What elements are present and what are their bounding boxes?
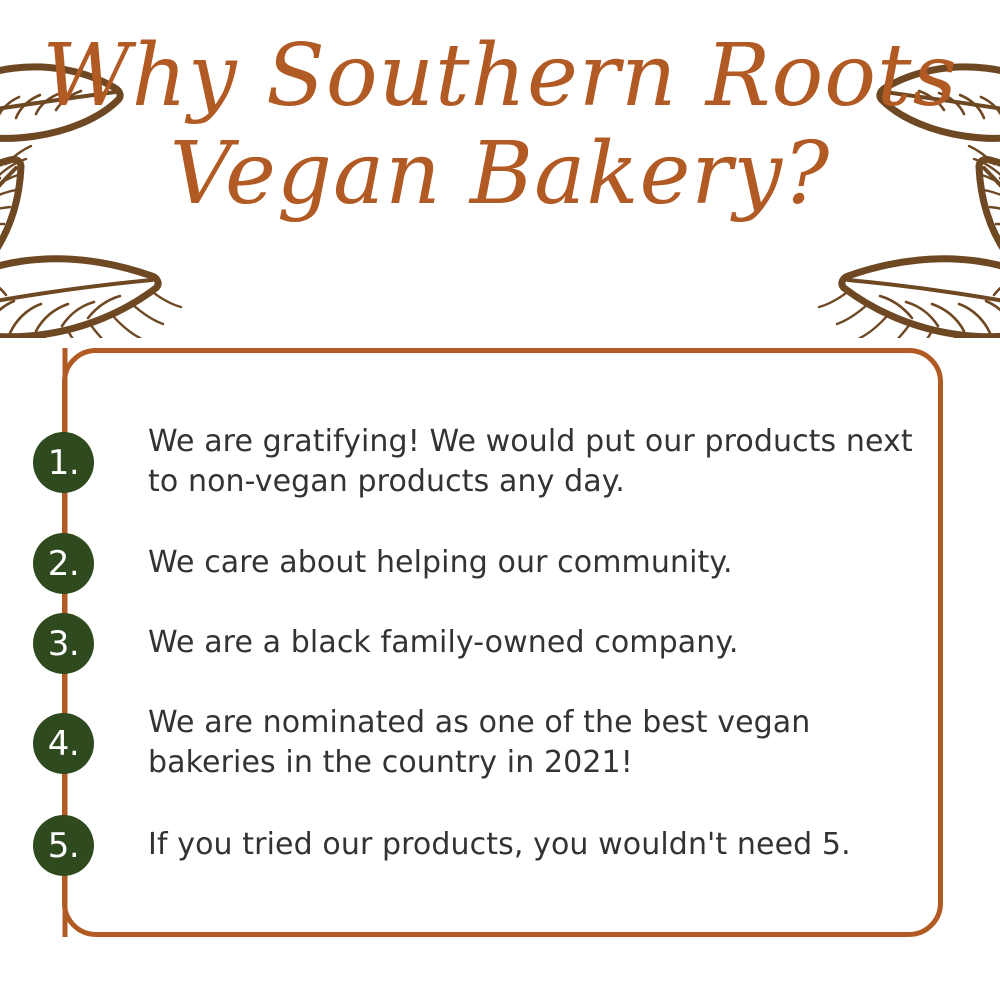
list-item-text: We are nominated as one of the best vega…: [148, 703, 918, 783]
list-item-number-badge: 3.: [33, 613, 94, 674]
list-item-number-badge: 4.: [33, 713, 94, 774]
list-item-number-badge: 1.: [33, 432, 94, 493]
list-item-text: If you tried our products, you wouldn't …: [148, 825, 918, 865]
page-title-line-1: Why Southern Roots: [0, 24, 1000, 128]
reasons-list: 1. We are gratifying! We would put our p…: [0, 348, 1000, 948]
page-title-line-2: Vegan Bakery?: [0, 122, 1000, 226]
page-title: Why Southern Roots Vegan Bakery?: [0, 24, 1000, 226]
list-item-number-badge: 5.: [33, 815, 94, 876]
list-item-text: We are a black family-owned company.: [148, 623, 918, 663]
list-item-number-badge: 2.: [33, 533, 94, 594]
list-item-text: We care about helping our community.: [148, 543, 918, 583]
list-item-text: We are gratifying! We would put our prod…: [148, 422, 918, 502]
